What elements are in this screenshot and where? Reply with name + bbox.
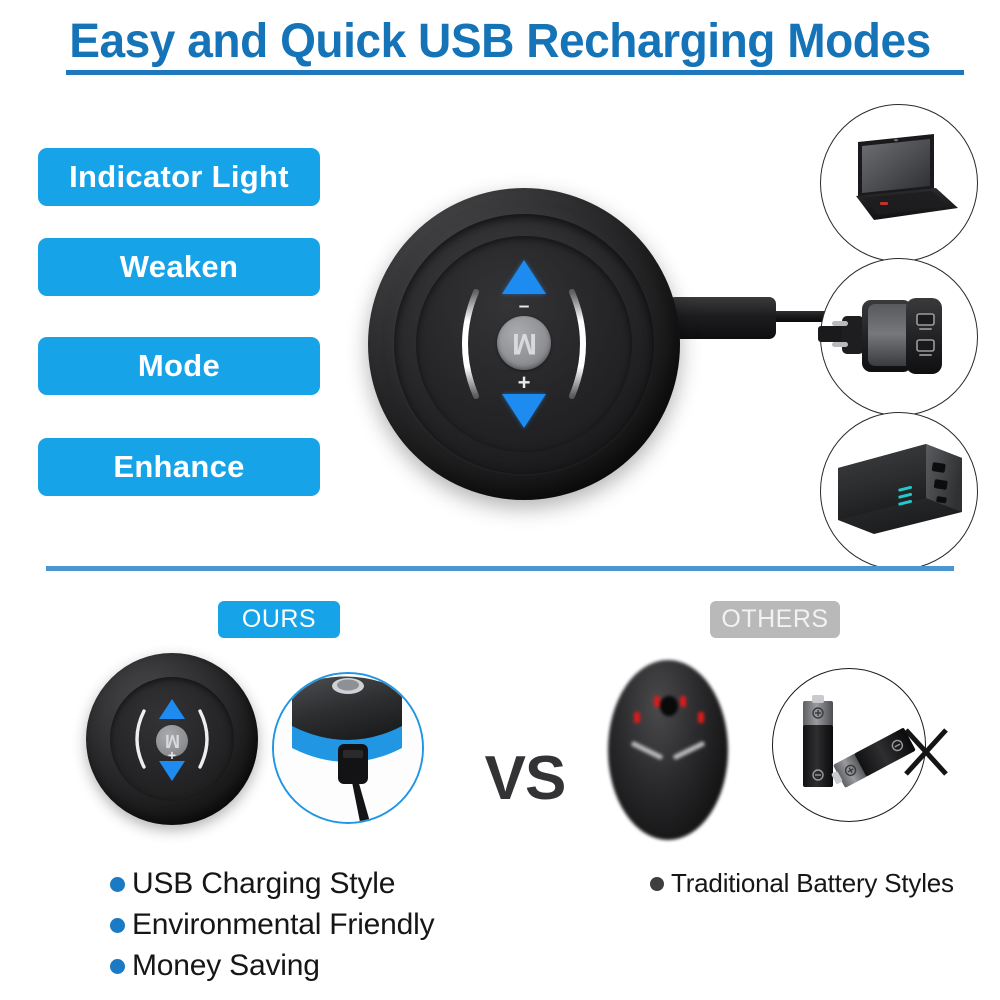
puck-increase-sign: + (168, 748, 176, 762)
ours-bullet-0-label: USB Charging Style (132, 867, 395, 901)
vs-label: VS (470, 748, 580, 810)
section-divider (46, 566, 954, 571)
ours-bullet-1-label: Environmental Friendly (132, 908, 434, 942)
feature-label-indicator-light: Indicator Light (38, 148, 320, 206)
laptop-icon (838, 128, 962, 234)
bullet-dot-icon (650, 877, 664, 891)
ours-bullet-2: Money Saving (110, 949, 320, 983)
puck-controls: – M + (86, 653, 258, 825)
enhance-arrow-icon[interactable] (502, 260, 546, 294)
bullet-dot-icon (110, 877, 125, 892)
bullet-dot-icon (110, 959, 125, 974)
infographic-page: Easy and Quick USB Recharging Modes Indi… (0, 0, 1000, 1000)
title-underline (66, 70, 964, 75)
power-bank-icon (830, 434, 970, 544)
page-title: Easy and Quick USB Recharging Modes (20, 14, 980, 69)
feature-label-weaken: Weaken (38, 238, 320, 296)
usb-wall-charger-icon (818, 282, 978, 386)
device-controls: – M + (368, 188, 680, 500)
mode-button-label: M (512, 328, 537, 358)
others-lens (660, 696, 678, 716)
cross-out-icon (900, 726, 952, 778)
others-led-1 (634, 712, 640, 723)
increase-sign: + (518, 372, 531, 394)
mode-button[interactable]: M (497, 316, 551, 370)
feature-label-mode: Mode (38, 337, 320, 395)
others-bar-left (631, 741, 664, 760)
usb-cable-plug (668, 297, 776, 339)
puck-weaken-arrow-icon (159, 761, 185, 781)
others-led-3 (680, 696, 686, 707)
weaken-arrow-icon[interactable] (502, 394, 546, 428)
decrease-sign: – (519, 297, 530, 316)
ours-bullet-2-label: Money Saving (132, 949, 320, 983)
massager-device: – M + (368, 188, 680, 500)
others-bar-right (673, 741, 706, 760)
bullet-dot-icon (110, 918, 125, 933)
ours-product-icon: – M + (86, 653, 258, 825)
badge-ours: OURS (218, 601, 340, 638)
feature-label-enhance: Enhance (38, 438, 320, 496)
others-bullet-0-label: Traditional Battery Styles (671, 868, 954, 899)
others-led-2 (654, 696, 660, 707)
others-bullet-0: Traditional Battery Styles (650, 868, 954, 899)
others-product-icon (608, 660, 728, 840)
puck-enhance-arrow-icon (159, 699, 185, 719)
ours-bullet-1: Environmental Friendly (110, 908, 434, 942)
ours-bullet-0: USB Charging Style (110, 867, 395, 901)
usb-port-closeup-icon (272, 672, 424, 824)
badge-others: OTHERS (710, 601, 840, 638)
others-led-4 (698, 712, 704, 723)
